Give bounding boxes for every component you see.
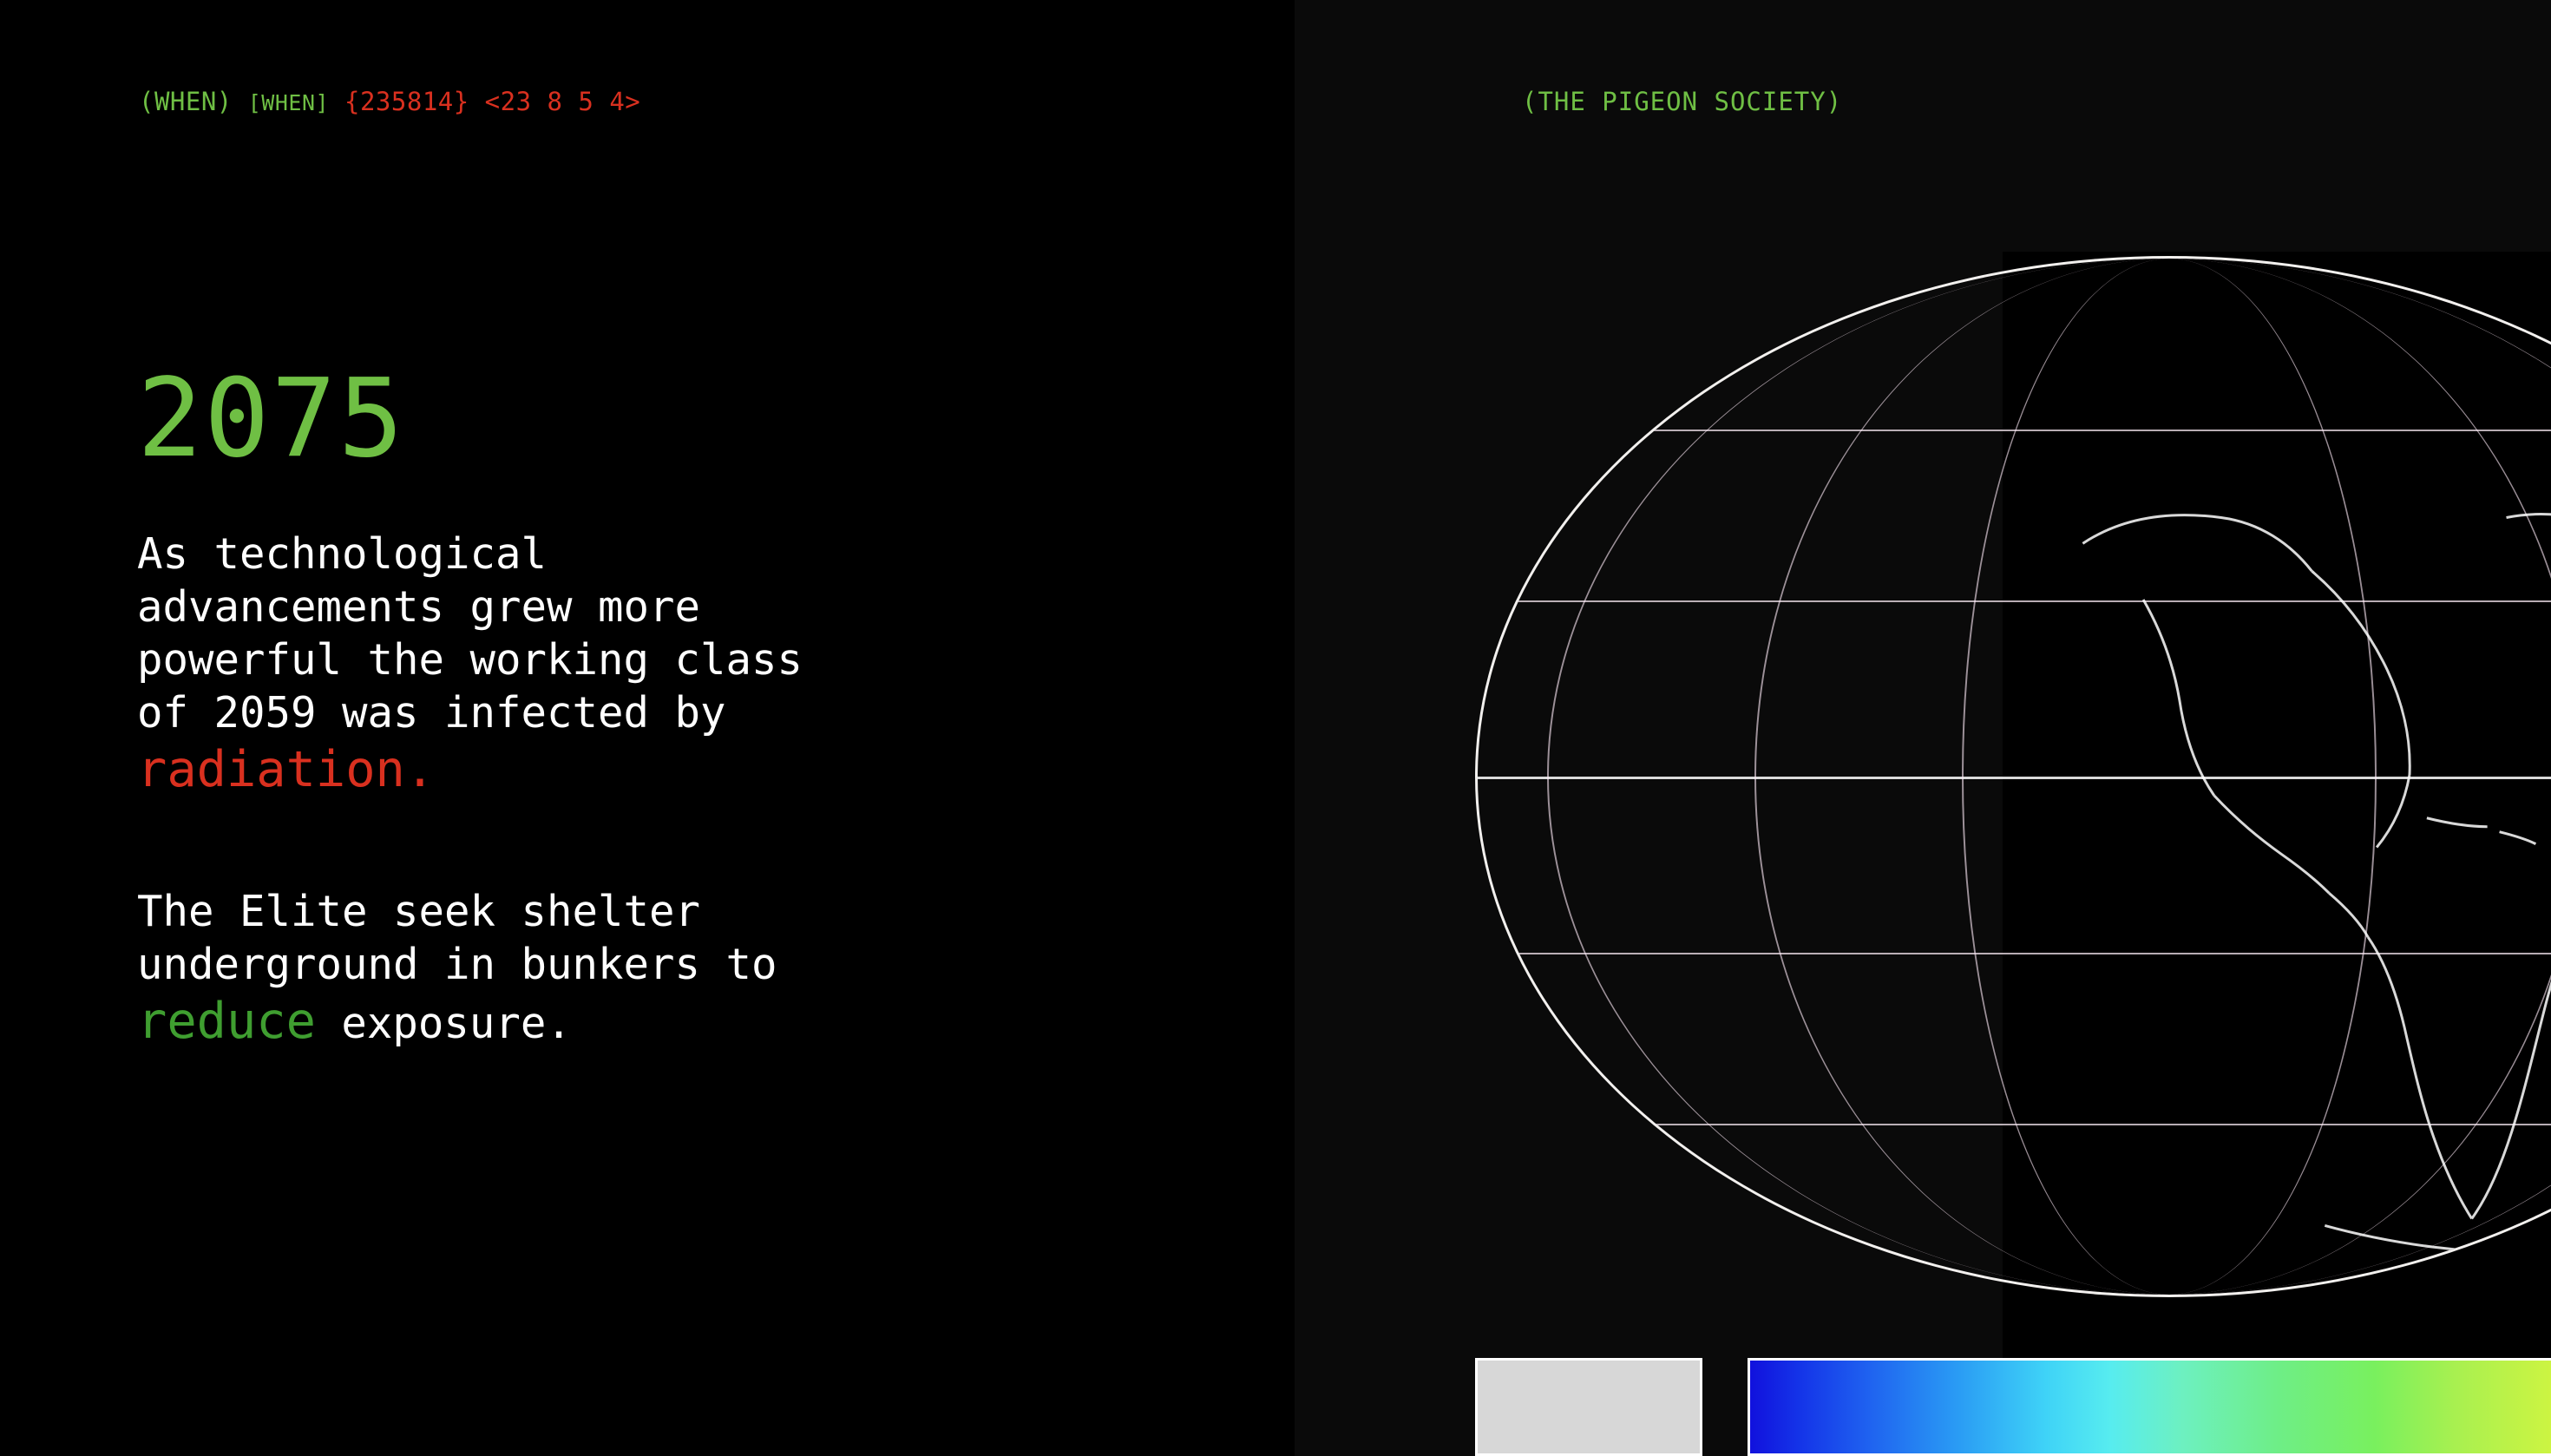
narrative-paragraph-1: As technological advancements grew more …	[137, 528, 831, 800]
year-title: 2075	[137, 364, 405, 473]
paragraph-1-text: As technological advancements grew more …	[137, 529, 803, 738]
paragraph-2-highlight: reduce	[137, 993, 316, 1050]
left-narrative-panel: (WHEN) [WHEN] {235814} <23 8 5 4> 2075 A…	[0, 0, 1295, 1456]
header-token-angle: <23 8 5 4>	[485, 87, 641, 116]
header-token-bracket: [WHEN]	[248, 90, 329, 115]
legend-row	[1475, 1358, 2551, 1456]
header-token-paren: (WHEN)	[139, 87, 233, 116]
paragraph-2-text-before: The Elite seek shelter underground in bu…	[137, 887, 777, 989]
map-figure-canvas	[2003, 252, 2551, 1456]
app-root: (WHEN) [WHEN] {235814} <23 8 5 4> 2075 A…	[0, 0, 2551, 1456]
narrative-paragraph-2: The Elite seek shelter underground in bu…	[137, 885, 831, 1052]
society-label: (THE PIGEON SOCIETY)	[1522, 87, 1842, 116]
header-token-brace: {235814}	[344, 87, 469, 116]
header-code-line: (WHEN) [WHEN] {235814} <23 8 5 4>	[139, 87, 640, 116]
paragraph-1-highlight: radiation.	[137, 741, 435, 798]
paragraph-2-text-after: exposure.	[316, 999, 572, 1048]
legend-colorbar[interactable]	[1748, 1358, 2551, 1456]
legend-blank-swatch[interactable]	[1475, 1358, 1702, 1456]
